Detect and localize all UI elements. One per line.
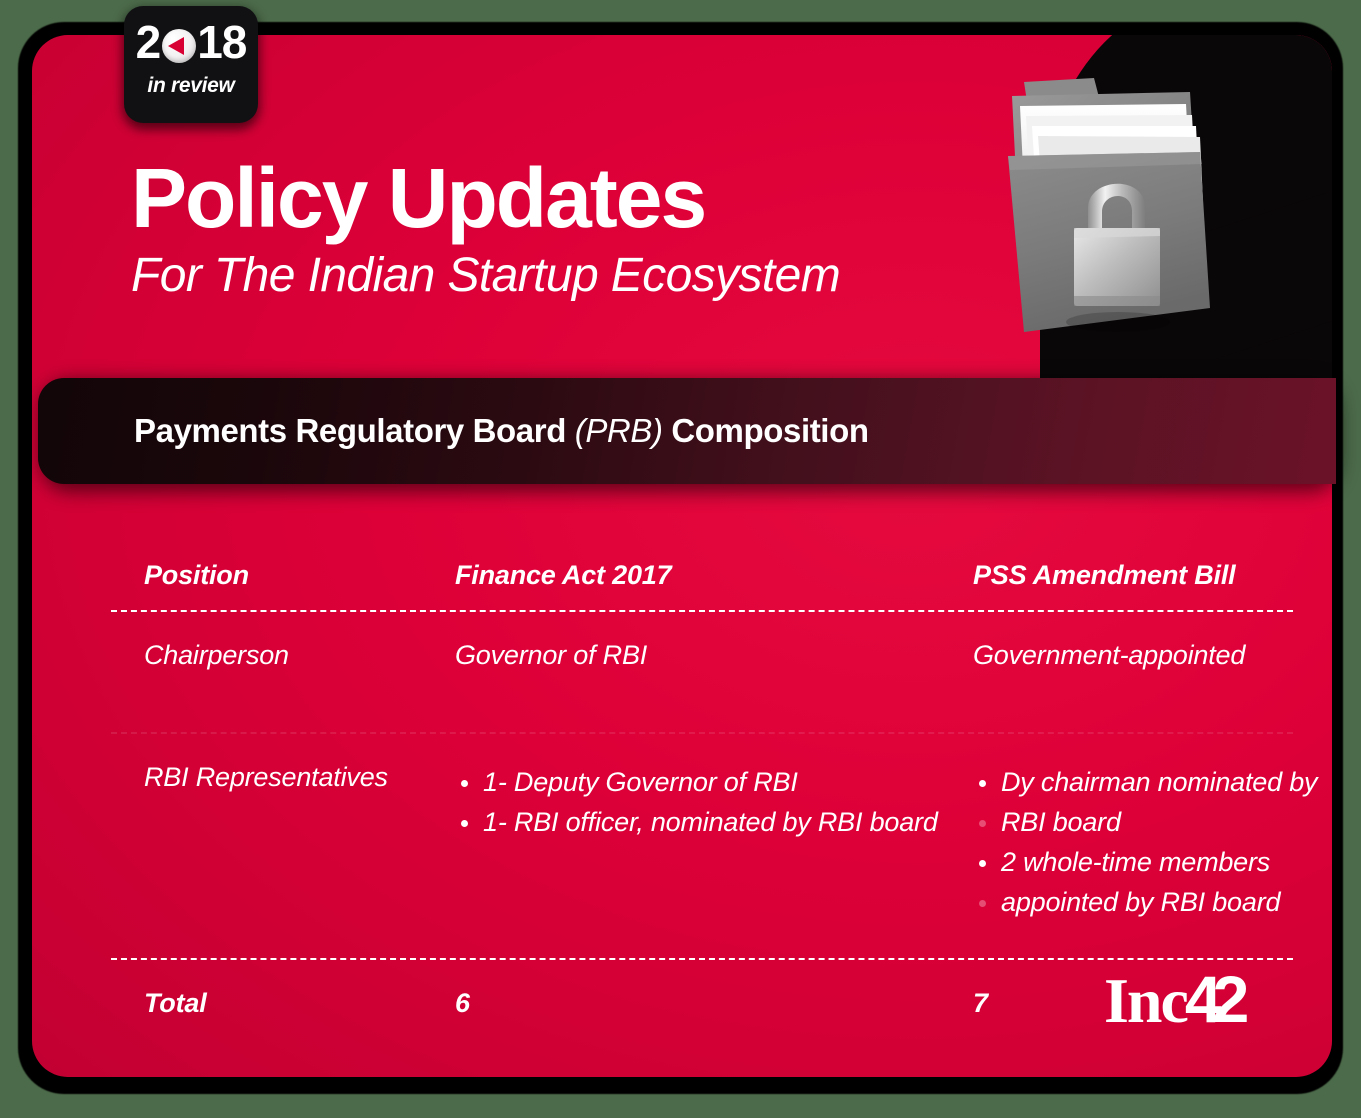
list-item: 1- Deputy Governor of RBI [455,762,938,802]
list-item: appointed by RBI board [973,882,1317,922]
year-badge-subtitle: in review [147,74,234,98]
section-title-abbrev: (PRB) [575,412,663,449]
table-header-divider [111,610,1293,612]
section-header-band: Payments Regulatory Board (PRB) Composit… [38,378,1336,484]
locked-folder-icon [968,60,1268,360]
play-circle-icon [162,29,196,63]
section-title-part-2: Composition [663,412,869,449]
total-finance-act: 6 [455,988,470,1019]
row-position-label: RBI Representatives [144,762,388,793]
row-finance-act-list: 1- Deputy Governor of RBI 1- RBI officer… [455,762,938,842]
total-pss-bill: 7 [973,988,988,1019]
section-title-part-1: Payments Regulatory Board [134,412,575,449]
list-item: RBI board [973,802,1317,842]
year-badge-year: 2 18 [136,17,247,67]
row-position-label: Chairperson [144,640,289,671]
inc42-logo: Inc 42 [1104,966,1240,1033]
logo-word-42: 42 [1185,966,1240,1032]
page-title: Policy Updates [131,156,705,240]
section-title: Payments Regulatory Board (PRB) Composit… [134,412,869,450]
list-item: Dy chairman nominated by [973,762,1317,802]
table-row-divider [111,732,1293,734]
row-pss-bill-list: Dy chairman nominated by RBI board 2 who… [973,762,1317,922]
column-header-position: Position [144,560,249,591]
column-header-pss-bill: PSS Amendment Bill [973,560,1235,591]
infographic-canvas: 2 18 in review Policy Updates For The In… [0,0,1361,1118]
year-badge: 2 18 in review [124,6,258,123]
logo-word-inc: Inc [1104,969,1187,1033]
row-finance-act-value: Governor of RBI [455,640,647,671]
list-item: 2 whole-time members [973,842,1317,882]
table-row: Chairperson Governor of RBI Government-a… [111,640,1293,732]
list-item: 1- RBI officer, nominated by RBI board [455,802,938,842]
year-digit-suffix: 18 [197,19,246,65]
row-pss-bill-value: Government-appointed [973,640,1245,671]
page-subtitle: For The Indian Startup Ecosystem [131,252,840,300]
table-header-row: Position Finance Act 2017 PSS Amendment … [111,560,1293,596]
total-label: Total [144,988,207,1019]
year-digit-prefix: 2 [136,19,161,65]
column-header-finance-act: Finance Act 2017 [455,560,671,591]
table-total-divider [111,958,1293,960]
table-row: RBI Representatives 1- Deputy Governor o… [111,762,1293,958]
